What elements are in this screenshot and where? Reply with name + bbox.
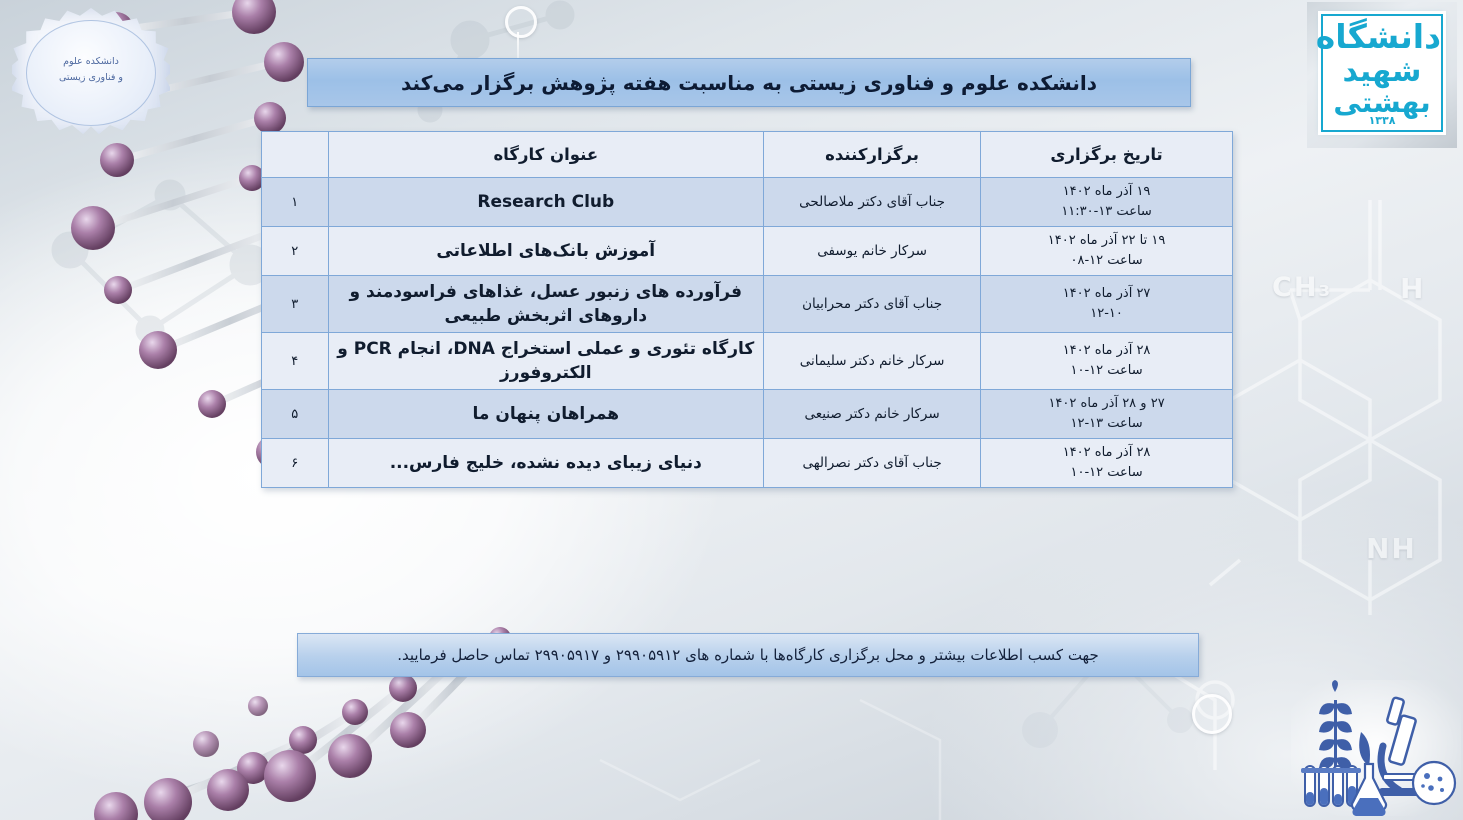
cell-host: سرکار خانم یوسفی	[764, 227, 981, 276]
cell-host: سرکار خانم دکتر سلیمانی	[764, 333, 981, 390]
table-row: ۲۷ آذر ماه ۱۴۰۲۱۲-۱۰جناب آقای دکتر محراب…	[262, 276, 1233, 333]
table-body: ۱۹ آذر ماه ۱۴۰۲ساعت ۱۳-۱۱:۳۰جناب آقای دک…	[262, 178, 1233, 488]
seal-line-2: و فناوری زیستی	[12, 70, 170, 86]
cell-date: ۲۸ آذر ماه ۱۴۰۲ساعت ۱۲-۱۰	[981, 333, 1233, 390]
faculty-seal-logo: دانشکده علوم و فناوری زیستی	[12, 8, 170, 138]
date-line-2: ساعت ۱۲-۰۸	[987, 251, 1226, 271]
logo-line-2: شهید	[1323, 54, 1441, 89]
title-banner: دانشکده علوم و فناوری زیستی به مناسبت هف…	[307, 58, 1191, 107]
table-row: ۲۷ و ۲۸ آذر ماه ۱۴۰۲ساعت ۱۳-۱۲سرکار خانم…	[262, 390, 1233, 439]
table-row: ۱۹ تا ۲۲ آذر ماه ۱۴۰۲ساعت ۱۲-۰۸سرکار خان…	[262, 227, 1233, 276]
footer-contact-banner: جهت کسب اطلاعات بیشتر و محل برگزاری کارگ…	[297, 633, 1199, 677]
date-line-1: ۲۸ آذر ماه ۱۴۰۲	[987, 341, 1226, 361]
cell-date: ۱۹ آذر ماه ۱۴۰۲ساعت ۱۳-۱۱:۳۰	[981, 178, 1233, 227]
logo-frame: دانشگاه شهید بهشتی ۱۳۳۸	[1321, 14, 1443, 132]
footer-note: جهت کسب اطلاعات بیشتر و محل برگزاری کارگ…	[397, 646, 1099, 664]
science-illustration	[1291, 680, 1461, 816]
cell-row-number: ۴	[262, 333, 329, 390]
table-header-row: تاریخ برگزاری برگزارکننده عنوان کارگاه	[262, 132, 1233, 178]
table-row: ۲۸ آذر ماه ۱۴۰۲ساعت ۱۲-۱۰جناب آقای دکتر …	[262, 439, 1233, 488]
cell-date: ۲۷ آذر ماه ۱۴۰۲۱۲-۱۰	[981, 276, 1233, 333]
cell-workshop-title: فرآورده های زنبور عسل، غذاهای فراسودمند …	[328, 276, 763, 333]
page-title: دانشکده علوم و فناوری زیستی به مناسبت هف…	[401, 71, 1097, 95]
cell-host: جناب آقای دکتر محرابیان	[764, 276, 981, 333]
cell-host: جناب آقای دکتر نصرالهی	[764, 439, 981, 488]
date-line-1: ۲۷ و ۲۸ آذر ماه ۱۴۰۲	[987, 394, 1226, 414]
date-line-2: ساعت ۱۳-۱۲	[987, 414, 1226, 434]
cell-workshop-title: کارگاه تئوری و عملی استخراج DNA، انجام P…	[328, 333, 763, 390]
seal-line-1: دانشکده علوم	[12, 54, 170, 70]
date-line-2: ۱۲-۱۰	[987, 304, 1226, 324]
ring-icon	[1192, 694, 1232, 734]
column-header-title: عنوان کارگاه	[328, 132, 763, 178]
table-row: ۱۹ آذر ماه ۱۴۰۲ساعت ۱۳-۱۱:۳۰جناب آقای دک…	[262, 178, 1233, 227]
chem-label-h: H	[1400, 272, 1425, 305]
chem-label-ch3: CH₃	[1272, 272, 1332, 303]
date-line-1: ۲۷ آذر ماه ۱۴۰۲	[987, 284, 1226, 304]
date-line-1: ۲۸ آذر ماه ۱۴۰۲	[987, 443, 1226, 463]
date-line-2: ساعت ۱۲-۱۰	[987, 361, 1226, 381]
cell-row-number: ۵	[262, 390, 329, 439]
cell-host: جناب آقای دکتر ملاصالحی	[764, 178, 981, 227]
column-header-number	[262, 132, 329, 178]
cell-host: سرکار خانم دکتر صنیعی	[764, 390, 981, 439]
logo-calligraphy: دانشگاه شهید بهشتی ۱۳۳۸	[1323, 16, 1441, 130]
cell-date: ۲۸ آذر ماه ۱۴۰۲ساعت ۱۲-۱۰	[981, 439, 1233, 488]
date-line-1: ۱۹ تا ۲۲ آذر ماه ۱۴۰۲	[987, 231, 1226, 251]
cell-row-number: ۶	[262, 439, 329, 488]
date-line-1: ۱۹ آذر ماه ۱۴۰۲	[987, 182, 1226, 202]
seal-text: دانشکده علوم و فناوری زیستی	[12, 54, 170, 86]
petri-dish-icon	[1413, 762, 1455, 804]
column-header-host: برگزارکننده	[764, 132, 981, 178]
column-header-date: تاریخ برگزاری	[981, 132, 1233, 178]
cell-row-number: ۳	[262, 276, 329, 333]
cell-row-number: ۱	[262, 178, 329, 227]
logo-founding-year: ۱۳۳۸	[1323, 114, 1441, 127]
cell-workshop-title: آموزش بانک‌های اطلاعاتی	[328, 227, 763, 276]
chem-label-nh: NH	[1366, 532, 1417, 565]
cell-row-number: ۲	[262, 227, 329, 276]
cell-date: ۲۷ و ۲۸ آذر ماه ۱۴۰۲ساعت ۱۳-۱۲	[981, 390, 1233, 439]
logo-line-1: دانشگاه	[1323, 17, 1441, 56]
table-row: ۲۸ آذر ماه ۱۴۰۲ساعت ۱۲-۱۰سرکار خانم دکتر…	[262, 333, 1233, 390]
date-line-2: ساعت ۱۲-۱۰	[987, 463, 1226, 483]
cell-workshop-title: Research Club	[328, 178, 763, 227]
table-header: تاریخ برگزاری برگزارکننده عنوان کارگاه	[262, 132, 1233, 178]
ring-icon	[505, 6, 537, 38]
poster-canvas: CH₃ H NH	[0, 0, 1463, 820]
university-logo: دانشگاه شهید بهشتی ۱۳۳۸	[1307, 2, 1457, 148]
cell-workshop-title: دنیای زیبای دیده نشده، خلیج فارس...	[328, 439, 763, 488]
workshop-schedule-table: تاریخ برگزاری برگزارکننده عنوان کارگاه ۱…	[261, 131, 1233, 488]
date-line-2: ساعت ۱۳-۱۱:۳۰	[987, 202, 1226, 222]
cell-date: ۱۹ تا ۲۲ آذر ماه ۱۴۰۲ساعت ۱۲-۰۸	[981, 227, 1233, 276]
cell-workshop-title: همراهان پنهان ما	[328, 390, 763, 439]
